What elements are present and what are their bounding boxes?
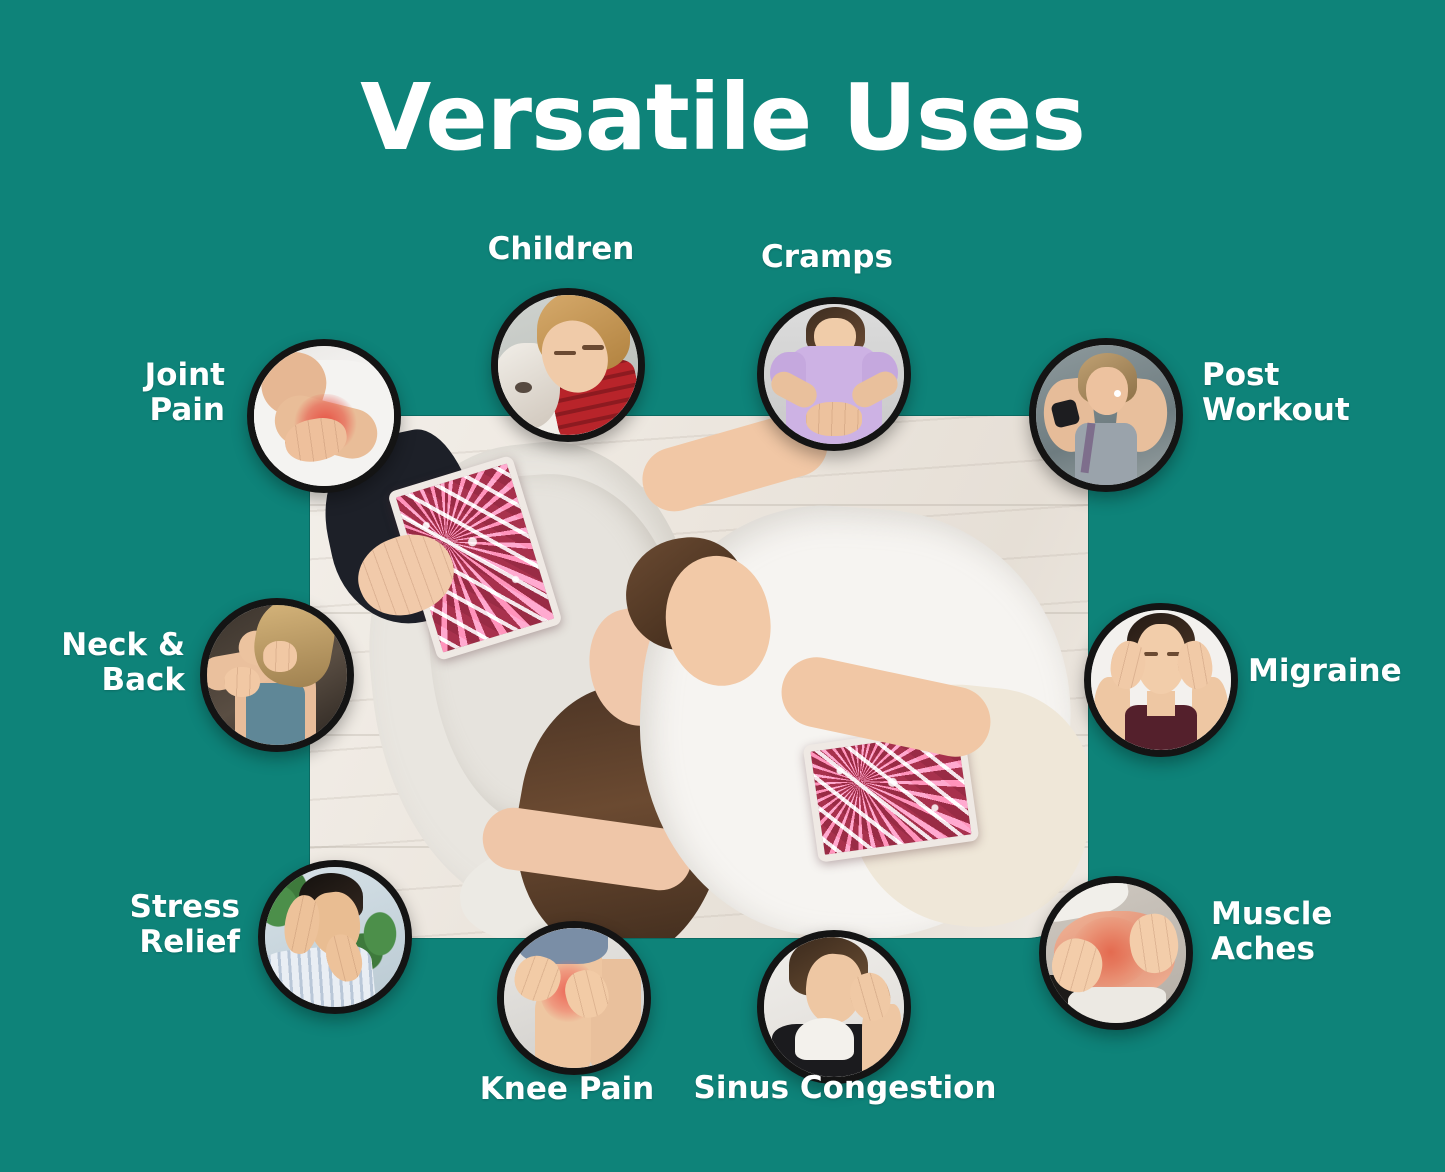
use-bubble-post-workout[interactable]: [1029, 338, 1183, 492]
use-bubble-migraine[interactable]: [1084, 603, 1238, 757]
use-bubble-joint-pain[interactable]: [247, 339, 401, 493]
use-label-migraine: Migraine: [1248, 654, 1445, 689]
use-label-neck-and-back: Neck & Back: [20, 628, 185, 698]
use-bubble-muscle-aches[interactable]: [1039, 876, 1193, 1030]
use-label-children: Children: [441, 232, 681, 267]
use-label-knee-pain: Knee Pain: [447, 1072, 687, 1107]
use-label-stress-relief: Stress Relief: [55, 890, 240, 960]
stress-relief-photo: [265, 867, 405, 1007]
use-label-sinus-congestion: Sinus Congestion: [690, 1071, 1000, 1106]
children-photo: [498, 295, 638, 435]
migraine-photo: [1091, 610, 1231, 750]
knee-pain-photo: [504, 928, 644, 1068]
hero-product-photo: [310, 416, 1088, 938]
cramps-photo: [764, 304, 904, 444]
use-bubble-stress-relief[interactable]: [258, 860, 412, 1014]
use-label-cramps: Cramps: [707, 240, 947, 275]
use-bubble-neck-and-back[interactable]: [200, 598, 354, 752]
use-label-joint-pain: Joint Pain: [60, 358, 225, 428]
post-workout-photo: [1036, 345, 1176, 485]
use-bubble-knee-pain[interactable]: [497, 921, 651, 1075]
use-bubble-cramps[interactable]: [757, 297, 911, 451]
sinus-congestion-photo: [764, 937, 904, 1077]
use-bubble-sinus-congestion[interactable]: [757, 930, 911, 1084]
page-title: Versatile Uses: [0, 72, 1445, 164]
muscle-aches-photo: [1046, 883, 1186, 1023]
joint-pain-photo: [254, 346, 394, 486]
use-label-post-workout: Post Workout: [1202, 358, 1402, 428]
use-label-muscle-aches: Muscle Aches: [1211, 897, 1431, 967]
neck-and-back-photo: [207, 605, 347, 745]
use-bubble-children[interactable]: [491, 288, 645, 442]
infographic-canvas: Versatile Uses Joint Pain: [0, 0, 1445, 1172]
